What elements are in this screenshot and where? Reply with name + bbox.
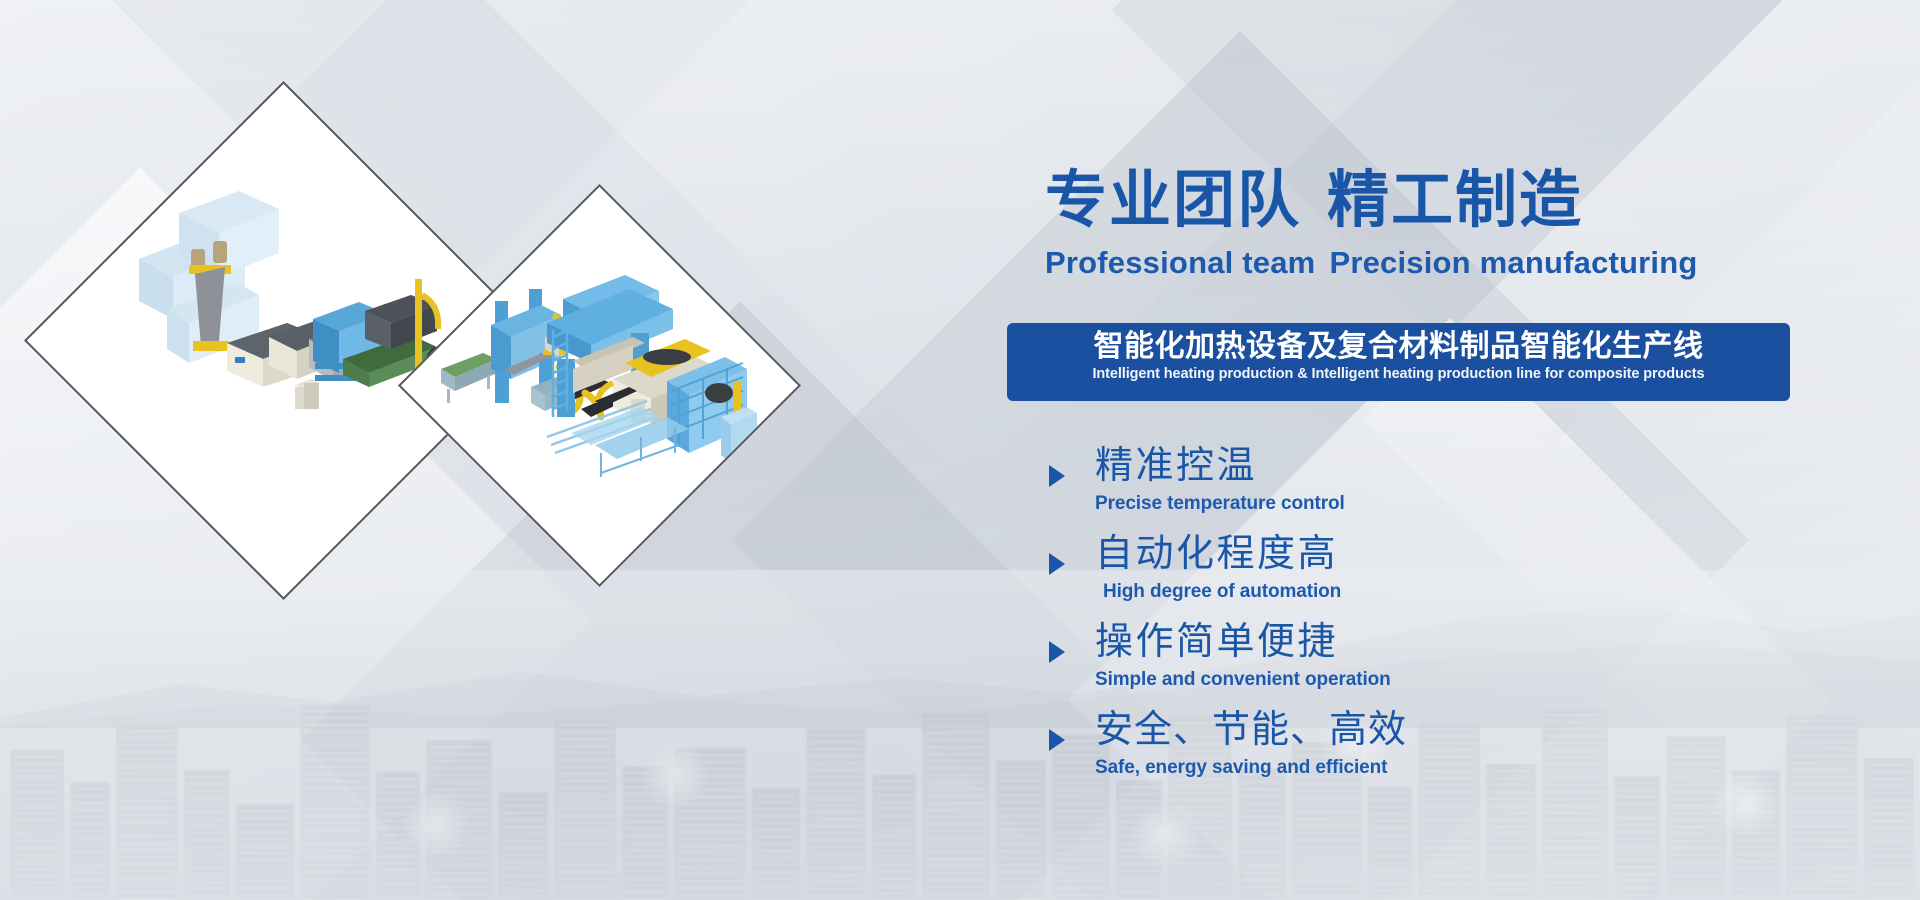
feature-item: 操作简单便捷 Simple and convenient operation (1035, 621, 1895, 709)
triangle-right-icon (1049, 465, 1065, 487)
triangle-right-icon (1049, 641, 1065, 663)
headline-en-part1: Professional team (1045, 245, 1315, 280)
triangle-right-icon (1049, 729, 1065, 751)
product-title-chinese: 智能化加热设备及复合材料制品智能化生产线 (1021, 329, 1776, 364)
feature-label-en: High degree of automation (1103, 581, 1341, 603)
content-column: 专业团队精工制造 Professional teamPrecision manu… (1007, 0, 1920, 900)
product-title-banner: 智能化加热设备及复合材料制品智能化生产线 Intelligent heating… (1007, 323, 1790, 401)
headline-chinese: 专业团队精工制造 (1045, 170, 1583, 232)
promo-banner: 专业团队精工制造 Professional teamPrecision manu… (0, 0, 1920, 900)
headline-cn-part2: 精工制造 (1327, 166, 1583, 235)
headline-english: Professional teamPrecision manufacturing (1045, 245, 1698, 281)
feature-label-en: Safe, energy saving and efficient (1095, 757, 1387, 779)
feature-label-cn: 安全、节能、高效 (1095, 709, 1407, 753)
feature-list: 精准控温 Precise temperature control 自动化程度高 … (1035, 445, 1895, 797)
product-title-english: Intelligent heating production & Intelli… (1021, 365, 1776, 383)
feature-label-cn: 精准控温 (1095, 445, 1257, 489)
feature-item: 精准控温 Precise temperature control (1035, 445, 1895, 533)
feature-label-cn: 自动化程度高 (1095, 533, 1338, 577)
feature-label-en: Simple and convenient operation (1095, 669, 1391, 691)
feature-item: 自动化程度高 High degree of automation (1035, 533, 1895, 621)
headline-en-part2: Precision manufacturing (1329, 245, 1697, 280)
feature-item: 安全、节能、高效 Safe, energy saving and efficie… (1035, 709, 1895, 797)
feature-label-en: Precise temperature control (1095, 493, 1345, 515)
feature-label-cn: 操作简单便捷 (1095, 621, 1338, 665)
triangle-right-icon (1049, 553, 1065, 575)
headline-cn-part1: 专业团队 (1045, 166, 1301, 235)
